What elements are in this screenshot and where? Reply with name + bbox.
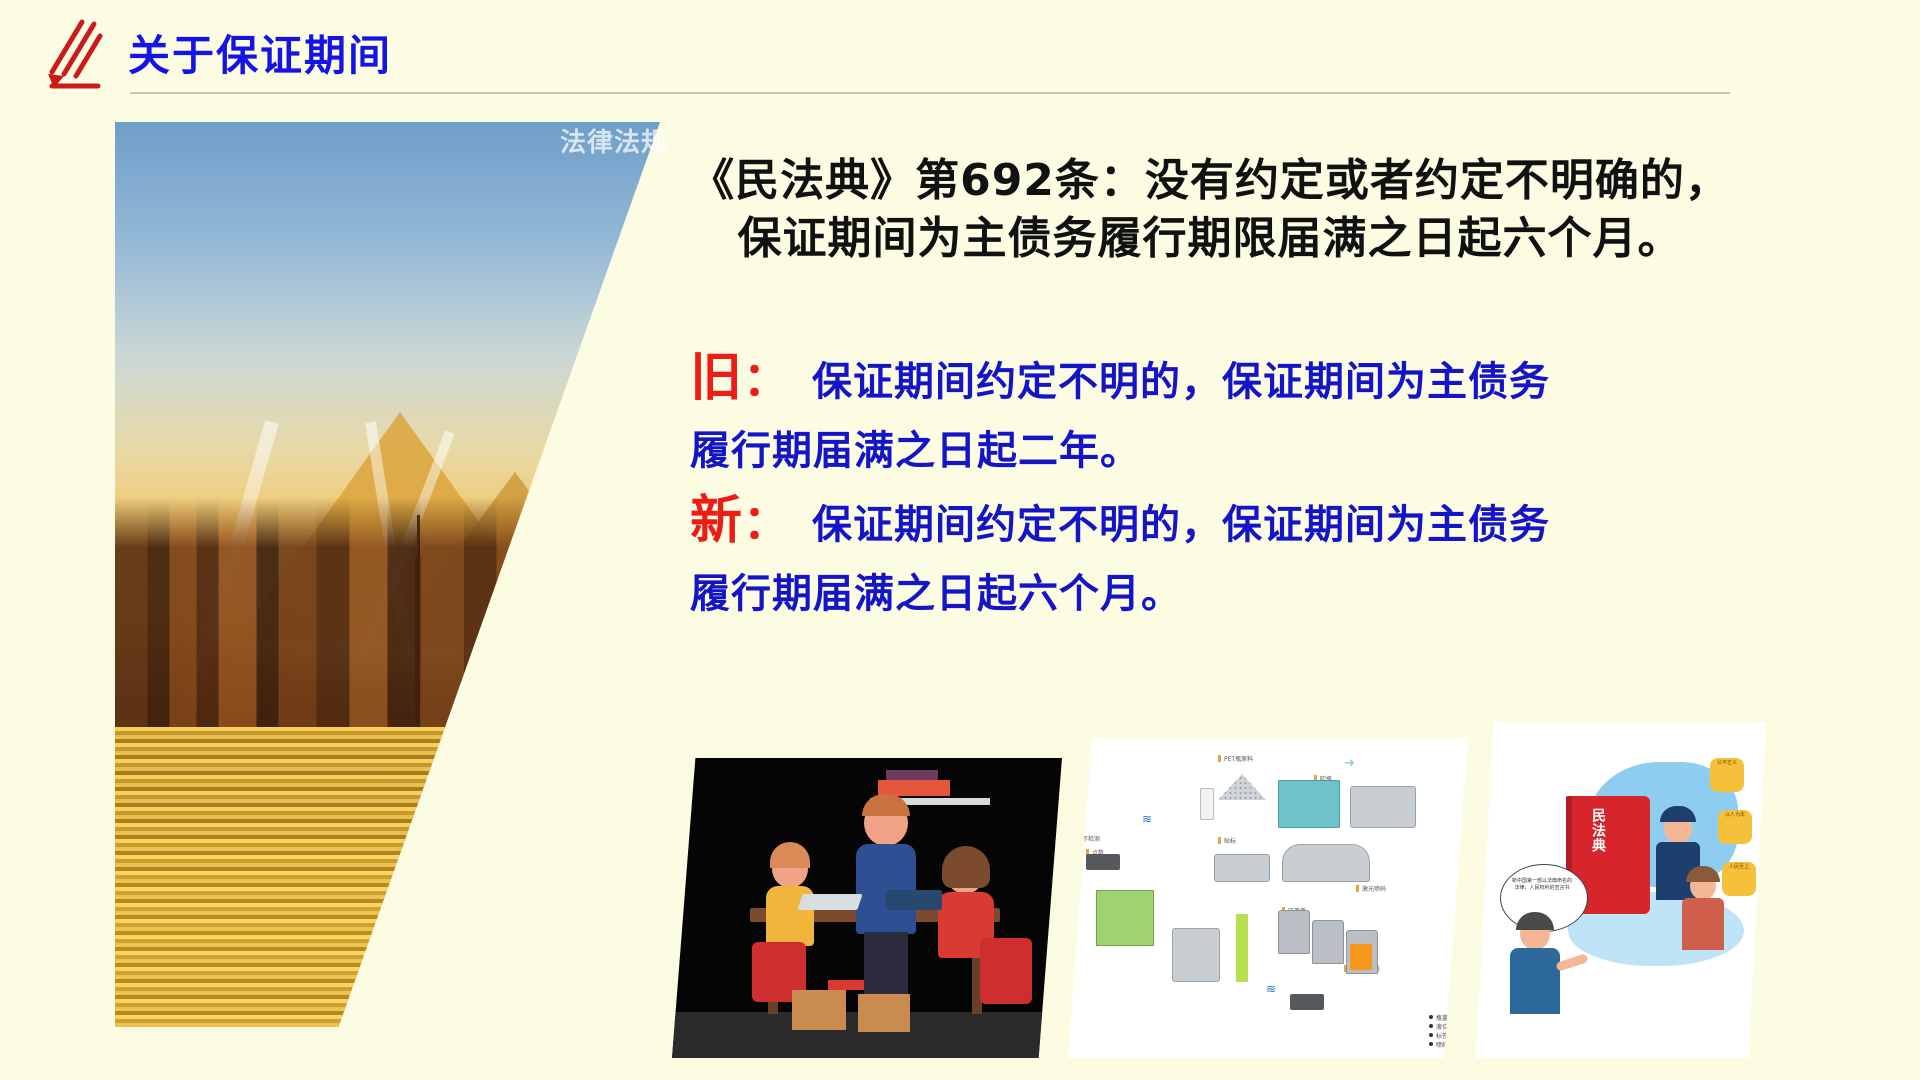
head-shape	[946, 854, 984, 894]
laser-beam-shape	[1236, 914, 1248, 982]
new-rule-line-2-paragraph: 履行期届满之日起六个月。	[690, 564, 1890, 625]
legs-shape	[864, 932, 908, 1018]
torso-shape	[1682, 898, 1724, 950]
skyline-shape	[115, 497, 660, 727]
torso-shape	[766, 886, 814, 946]
badge-fairness: 公平正义	[1710, 758, 1744, 792]
torso-shape	[1510, 948, 1560, 1014]
cap-shape	[1660, 806, 1696, 822]
pencil-icon	[38, 14, 108, 90]
hair-shape	[770, 842, 810, 868]
shelf-shape	[870, 798, 990, 805]
wifi-icon: ≋	[1266, 982, 1276, 996]
flow-label-blow-molding: 吹瓶	[1314, 774, 1332, 783]
comparison-block: 旧：保证期间约定不明的，保证期间为主债务 履行期届满之日起二年。 新：保证期间约…	[690, 345, 1890, 630]
legend-item-level: 液位检测	[1429, 1023, 1460, 1032]
tank-shape	[1312, 920, 1344, 964]
box-shape	[858, 994, 910, 1032]
head-shape	[1520, 918, 1550, 950]
machine-shape	[1214, 854, 1270, 882]
accent-shape	[828, 980, 864, 990]
badge-people-supreme: 人民至上	[1722, 862, 1756, 896]
civil-code-book-shape	[1572, 796, 1650, 914]
old-rule-line-1: 保证期间约定不明的，保证期间为主债务	[812, 359, 1550, 405]
books-shape	[886, 770, 938, 780]
background-blob-shape	[1568, 892, 1744, 966]
flow-label-laser-coding: 激光喷码	[1356, 884, 1386, 893]
storage-rack-shape	[1096, 890, 1154, 946]
box-shape	[792, 990, 846, 1030]
water-reflection-shape	[115, 727, 660, 1027]
laptop-shape	[797, 894, 862, 910]
headline-block: 《民法典》第692条：没有约定或者约定不明确的， 保证期间为主债务履行期限届满之…	[540, 152, 1880, 268]
civil-code-book-illustration: 民法典 新中国第一部以法典命名的法律，人民权利的宣言书 公平正义 以人为本 人民…	[1476, 722, 1766, 1058]
badge-people-first: 以人为本	[1718, 810, 1752, 844]
raw-material-pile-shape	[1218, 774, 1266, 800]
civil-code-book-title: 民法典	[1588, 808, 1608, 853]
headline-line-2: 保证期间为主债务履行期限届满之日起六个月。	[540, 210, 1880, 268]
new-rule-paragraph: 新：保证期间约定不明的，保证期间为主债务	[690, 488, 1890, 558]
chair-shape	[752, 942, 806, 1002]
desk-shape	[750, 908, 1000, 922]
legend-item-cap: 瓶盖检测	[1429, 1014, 1460, 1023]
arm-shape	[1555, 953, 1588, 971]
old-rule-line-2: 履行期届满之日起二年。	[690, 428, 1141, 474]
hair-shape	[1686, 866, 1720, 882]
office-meeting-illustration	[672, 758, 1062, 1058]
flow-legend: 瓶盖检测 液位检测 标签检测 喷码检测	[1429, 1014, 1460, 1050]
new-rule-line-1: 保证期间约定不明的，保证期间为主债务	[812, 502, 1550, 548]
machine-blow-molder	[1278, 780, 1340, 828]
camera-icon	[1086, 854, 1120, 870]
juice-fill-shape	[1350, 944, 1372, 970]
head-shape	[1664, 814, 1692, 844]
headline-line-1: 《民法典》第692条：没有约定或者约定不明确的，	[690, 155, 1730, 206]
flow-label-capping: 压盖瓶	[1282, 906, 1306, 915]
chair-shape	[980, 938, 1032, 1004]
speech-bubble-text: 新中国第一部以法典命名的法律，人民权利的宣言书	[1510, 878, 1574, 893]
uniform-shape	[1656, 842, 1700, 900]
torso-shape	[938, 892, 994, 958]
hair-shape	[942, 846, 990, 888]
legend-item-code: 喷码检测	[1429, 1041, 1460, 1050]
new-tag: 新	[690, 491, 743, 551]
hair-shape	[1516, 912, 1554, 930]
old-tag: 旧	[690, 348, 743, 408]
header-divider	[130, 92, 1730, 94]
books-shape	[878, 780, 950, 796]
torso-shape	[856, 844, 916, 934]
old-rule-line-2-paragraph: 履行期届满之日起二年。	[690, 421, 1890, 482]
head-shape	[772, 850, 808, 888]
flow-label-no-detect: 不检测	[1076, 834, 1100, 843]
bottle-icon	[1200, 788, 1214, 820]
flow-label-filling: 灌装、封盖	[1344, 964, 1380, 973]
page-title: 关于保证期间	[128, 22, 392, 83]
flow-label-labeling: 贴标	[1218, 836, 1236, 845]
desk-leg-shape	[768, 922, 778, 1014]
legend-item-label: 标签检测	[1429, 1032, 1460, 1041]
old-rule-paragraph: 旧：保证期间约定不明的，保证期间为主债务	[690, 345, 1890, 415]
head-shape	[1690, 872, 1716, 900]
flow-label-raw-material: PET瓶原料	[1218, 754, 1253, 763]
new-rule-line-2: 履行期届满之日起六个月。	[690, 571, 1182, 617]
hair-shape	[862, 794, 910, 816]
tank-shape	[1346, 930, 1378, 974]
pet-bottle-production-flow-diagram: PET瓶原料 吹瓶 贴标 压盖瓶 激光喷码 灌装、封盖 不检测 点数 ➜ ≋ ≋…	[1068, 738, 1468, 1058]
machine-shape	[1350, 786, 1416, 828]
flow-label-count: 点数	[1086, 848, 1104, 857]
background-blob-shape	[1588, 762, 1738, 888]
floor-shape	[672, 1012, 1062, 1058]
head-shape	[864, 800, 908, 846]
arrow-icon: ➜	[1344, 756, 1355, 771]
wifi-icon: ≋	[1142, 812, 1152, 826]
monitor-shape	[886, 890, 942, 910]
speech-bubble-shape	[1500, 864, 1588, 932]
slide-header: 关于保证期间	[0, 0, 1920, 100]
machine-shape	[1172, 928, 1220, 982]
camera-icon	[1290, 994, 1324, 1010]
old-colon: ：	[743, 352, 790, 406]
new-colon: ：	[743, 495, 790, 549]
machine-tunnel-shape	[1282, 844, 1370, 882]
tank-shape	[1278, 910, 1310, 954]
desk-leg-shape	[972, 922, 982, 1014]
